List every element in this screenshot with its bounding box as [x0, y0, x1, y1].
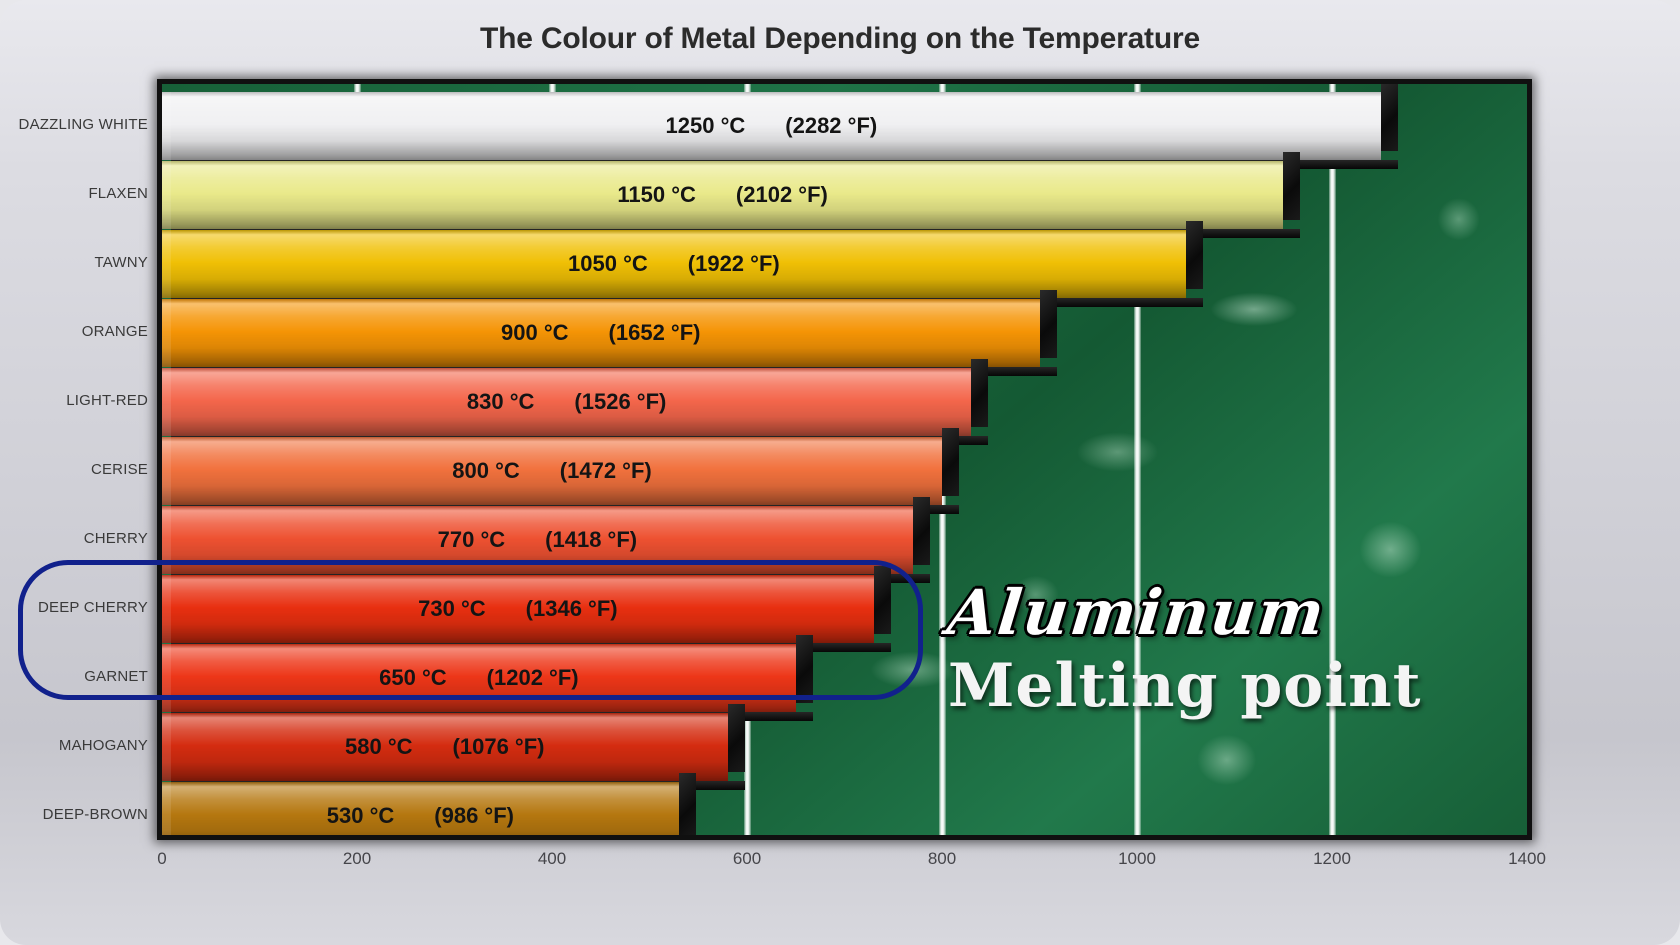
bar-shadow-right [913, 497, 930, 565]
category-label-cerise: CERISE [0, 461, 148, 478]
x-tick-1400: 1400 [1508, 849, 1546, 869]
bar-shadow-right [679, 773, 696, 840]
bar-shadow-right [1283, 152, 1300, 220]
bar-shadow-right [942, 428, 959, 496]
bar-shadow-right [796, 635, 813, 703]
category-label-orange: ORANGE [0, 323, 148, 340]
page-title: The Colour of Metal Depending on the Tem… [0, 22, 1680, 56]
bar-dazzling-white[interactable] [162, 92, 1381, 160]
x-tick-600: 600 [733, 849, 761, 869]
bar-shadow-right [1381, 83, 1398, 151]
category-label-garnet: GARNET [0, 668, 148, 685]
bar-light-red[interactable] [162, 368, 971, 436]
bar-shadow-right [1186, 221, 1203, 289]
bar-face [162, 161, 1283, 229]
bar-face [162, 575, 874, 643]
category-label-deep-cherry: DEEP CHERRY [0, 599, 148, 616]
x-axis: 0200400600800100012001400 [0, 845, 1680, 885]
bar-face [162, 782, 679, 840]
plot-area: 1250 °C(2282 °F)1150 °C(2102 °F)1050 °C(… [162, 84, 1527, 835]
bar-face [162, 437, 942, 505]
bar-face [162, 299, 1040, 367]
gridline-1200 [1329, 84, 1336, 835]
annotation-line-aluminum: Aluminum [944, 576, 1425, 649]
bar-orange[interactable] [162, 299, 1040, 367]
x-tick-800: 800 [928, 849, 956, 869]
bar-tawny[interactable] [162, 230, 1186, 298]
category-label-light-red: LIGHT-RED [0, 392, 148, 409]
bar-mahogany[interactable] [162, 713, 728, 781]
bar-face [162, 92, 1381, 160]
bar-face [162, 230, 1186, 298]
bar-face [162, 644, 796, 712]
category-label-deep-brown: DEEP-BROWN [0, 806, 148, 823]
x-tick-1000: 1000 [1118, 849, 1156, 869]
x-tick-1200: 1200 [1313, 849, 1351, 869]
bar-face [162, 368, 971, 436]
annotation-aluminum-melting-point: Aluminum Melting point [948, 576, 1421, 721]
category-label-dazzling-white: DAZZLING WHITE [0, 116, 148, 133]
bar-garnet[interactable] [162, 644, 796, 712]
category-label-mahogany: MAHOGANY [0, 737, 148, 754]
x-tick-200: 200 [343, 849, 371, 869]
bar-shadow-right [728, 704, 745, 772]
x-tick-400: 400 [538, 849, 566, 869]
plot-frame: 1250 °C(2282 °F)1150 °C(2102 °F)1050 °C(… [157, 79, 1532, 840]
bar-cerise[interactable] [162, 437, 942, 505]
category-label-flaxen: FLAXEN [0, 185, 148, 202]
category-label-cherry: CHERRY [0, 530, 148, 547]
bar-shadow-right [1040, 290, 1057, 358]
bar-cherry[interactable] [162, 506, 913, 574]
x-tick-0: 0 [157, 849, 166, 869]
bar-face [162, 506, 913, 574]
annotation-line-melting-point: Melting point [948, 651, 1421, 721]
chart-root: The Colour of Metal Depending on the Tem… [0, 0, 1680, 945]
category-label-tawny: TAWNY [0, 254, 148, 271]
bar-shadow-right [874, 566, 891, 634]
bar-flaxen[interactable] [162, 161, 1283, 229]
bar-shadow-right [971, 359, 988, 427]
bar-deep-cherry[interactable] [162, 575, 874, 643]
bar-face [162, 713, 728, 781]
bar-deep-brown[interactable] [162, 782, 679, 840]
